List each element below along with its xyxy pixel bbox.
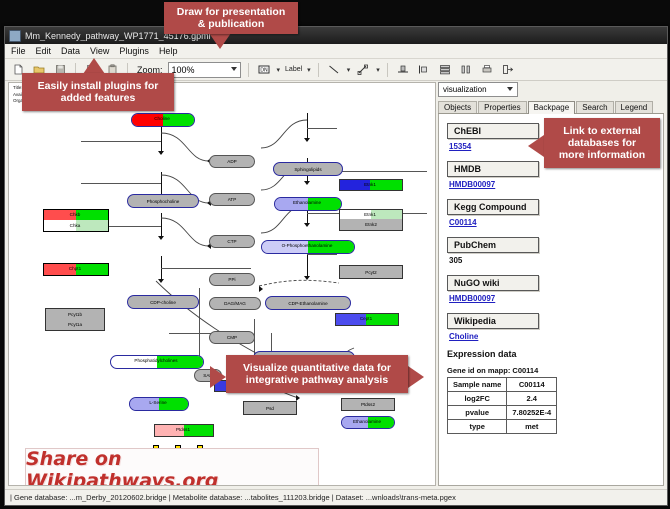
gene-label-chkb: Chkb xyxy=(43,212,107,217)
table-row: Sample name C00114 xyxy=(448,378,557,392)
toolbar-separator xyxy=(318,63,319,77)
gene-label-chka: Chka xyxy=(43,223,107,228)
share-banner: Share on Wikipathways.org xyxy=(25,448,319,486)
db-link-kegg-compound[interactable]: C00114 xyxy=(449,218,663,227)
cell-key: type xyxy=(448,420,507,434)
cofactor-atp[interactable]: ATP xyxy=(209,193,255,206)
gene-id-line: Gene id on mapp: C00114 xyxy=(447,366,663,375)
cell-key: pvalue xyxy=(448,406,507,420)
node-label: CDP-Ethanolamine xyxy=(288,301,327,306)
db-header-nugo-wiki: NuGO wiki xyxy=(447,275,539,291)
label-tool-icon[interactable]: Label xyxy=(285,66,302,73)
gene-label: Pcyt1b xyxy=(68,312,82,317)
cell-key: log2FC xyxy=(448,392,507,406)
gene-label: Ptdss2 xyxy=(361,402,375,407)
zoom-value: 100% xyxy=(172,65,195,75)
gene-psd[interactable]: Psd xyxy=(243,401,297,415)
table-row: log2FC 2.4 xyxy=(448,392,557,406)
gene-label-cept1: Cept1 xyxy=(335,316,397,321)
node-label: Phosphocholine xyxy=(147,199,180,204)
backpage-content[interactable]: ChEBI 15354 HMDB HMDB00097 Kegg Compound… xyxy=(438,114,664,486)
side-panel-tabs: Objects Properties Backpage Search Legen… xyxy=(438,99,664,114)
callout-arrow-down-icon xyxy=(209,33,231,49)
gene-pcyt2[interactable]: Pcyt2 xyxy=(339,265,403,279)
cell-value: C00114 xyxy=(507,378,557,392)
table-row: type met xyxy=(448,420,557,434)
tab-search[interactable]: Search xyxy=(576,101,613,113)
menu-item-data[interactable]: Data xyxy=(61,46,80,56)
cofactor-label: DAG/MAG xyxy=(224,301,246,306)
db-header-kegg-compound: Kegg Compound xyxy=(447,199,539,215)
distribute-tool-icon[interactable] xyxy=(458,62,474,78)
node-label-l-serine-left: L-Serine xyxy=(129,400,187,405)
gene-pcyt1a[interactable]: Pcyt1a xyxy=(45,319,105,331)
node-label-ethanolamine: Ethanolamine xyxy=(274,200,340,205)
cell-value: 7.80252E-4 xyxy=(507,406,557,420)
db-link-hmdb[interactable]: HMDB00097 xyxy=(449,180,663,189)
export-icon[interactable] xyxy=(500,62,516,78)
callout-arrow-left-icon xyxy=(528,135,544,157)
menu-item-help[interactable]: Help xyxy=(159,46,178,56)
pathway-canvas[interactable]: Title: Availa Organi xyxy=(8,82,436,486)
cofactor-label: CMP xyxy=(227,335,237,340)
callout-arrow-right-icon-2 xyxy=(408,366,424,388)
menu-item-edit[interactable]: Edit xyxy=(36,46,52,56)
chevron-down-icon[interactable]: ▾ xyxy=(307,66,311,74)
chevron-down-icon[interactable]: ▾ xyxy=(347,66,351,74)
screenshot-root: Mm_Kennedy_pathway_WP1771_45176.gpml Fil… xyxy=(0,0,670,509)
db-header-pubchem: PubChem xyxy=(447,237,539,253)
tab-backpage[interactable]: Backpage xyxy=(528,101,576,114)
line-tool-icon[interactable] xyxy=(326,62,342,78)
datanode-tool-icon[interactable]: DN xyxy=(256,62,272,78)
chevron-down-icon xyxy=(507,87,513,91)
arrow-icon xyxy=(259,286,263,292)
expression-data-heading: Expression data xyxy=(447,349,663,359)
menu-item-file[interactable]: File xyxy=(11,46,26,56)
db-header-wikipedia: Wikipedia xyxy=(447,313,539,329)
callout-draw-for-presentation: Draw for presentation & publication xyxy=(164,2,298,34)
db-header-chebi: ChEBI xyxy=(447,123,539,139)
table-row: pvalue 7.80252E-4 xyxy=(448,406,557,420)
cofactor-dag-mag[interactable]: DAG/MAG xyxy=(209,297,261,310)
toolbar-separator xyxy=(248,63,249,77)
gene-label-sgpl1: Etnk1 xyxy=(339,182,401,187)
tab-legend[interactable]: Legend xyxy=(615,101,654,113)
menu-item-plugins[interactable]: Plugins xyxy=(119,46,149,56)
cell-value: met xyxy=(507,420,557,434)
menu-bar: File Edit Data View Plugins Help xyxy=(5,44,667,59)
node-label-phosphatidylcholines: Phosphatidylcholines xyxy=(110,358,202,363)
status-text: | Gene database: ...m_Derby_20120602.bri… xyxy=(10,493,456,502)
tab-properties[interactable]: Properties xyxy=(478,101,526,113)
cofactor-ctp[interactable]: CTP xyxy=(209,235,255,248)
cell-value: 2.4 xyxy=(507,392,557,406)
gene-label-ptdss1: Ptdss1 xyxy=(154,427,212,432)
gene-etnk2[interactable]: Etnk2 xyxy=(339,219,403,231)
order-tool-icon[interactable] xyxy=(416,62,432,78)
callout-visualize-quantitative-data: Visualize quantitative data for integrat… xyxy=(226,355,408,393)
db-value-pubchem: 305 xyxy=(449,256,663,265)
toolbar-separator xyxy=(387,63,388,77)
callout-link-to-external-databases: Link to external databases for more info… xyxy=(544,118,660,168)
cell-key: Sample name xyxy=(448,378,507,392)
db-header-hmdb: HMDB xyxy=(447,161,539,177)
menu-item-view[interactable]: View xyxy=(90,46,109,56)
gene-label-chpt1: Chpt1 xyxy=(43,266,107,271)
app-icon xyxy=(9,30,21,42)
node-sphingolipids[interactable]: Sphingolipids xyxy=(273,162,343,176)
callout-easily-install-plugins: Easily install plugins for added feature… xyxy=(22,73,174,111)
align-tool-icon[interactable] xyxy=(395,62,411,78)
tab-objects[interactable]: Objects xyxy=(438,101,477,113)
cofactor-label: ADP xyxy=(227,159,236,164)
zoom-select[interactable]: 100% xyxy=(168,62,241,78)
callout-arrow-right-icon xyxy=(210,366,226,388)
gene-label: Etnk2 xyxy=(365,222,377,227)
gene-label: Pcyt1a xyxy=(68,322,82,327)
chevron-down-icon[interactable]: ▾ xyxy=(376,66,380,74)
cofactor-ppi[interactable]: PPi xyxy=(209,273,255,286)
cofactor-label: ATP xyxy=(228,197,237,202)
visualization-value: visualization xyxy=(443,85,487,94)
gene-label: Psd xyxy=(266,406,274,411)
title-bar: Mm_Kennedy_pathway_WP1771_45176.gpml xyxy=(5,27,667,44)
svg-text:DN: DN xyxy=(260,68,268,74)
cofactor-cmp[interactable]: CMP xyxy=(209,331,255,344)
chevron-down-icon[interactable]: ▾ xyxy=(277,66,281,74)
shape-tool-icon[interactable] xyxy=(355,62,371,78)
node-label-o-phosphoethanolamine: O-Phosphoethanolamine xyxy=(261,243,353,248)
chevron-down-icon xyxy=(231,67,237,71)
visualization-select[interactable]: visualization xyxy=(438,82,518,97)
node-label: Sphingolipids xyxy=(294,167,321,172)
cofactor-label: CTP xyxy=(227,239,236,244)
node-label-choline: Choline xyxy=(131,116,193,121)
group-tool-icon[interactable] xyxy=(437,62,453,78)
cofactor-adp[interactable]: ADP xyxy=(209,155,255,168)
node-phosphocholine[interactable]: Phosphocholine xyxy=(127,194,199,208)
callout-arrow-up-icon xyxy=(83,58,105,74)
cofactor-label: PPi xyxy=(228,277,235,282)
node-cdp-choline[interactable]: CDP-choline xyxy=(127,295,199,309)
share-banner-text: Share on Wikipathways.org xyxy=(26,448,318,486)
db-link-wikipedia[interactable]: Choline xyxy=(449,332,663,341)
gene-label: Pcyt2 xyxy=(365,270,377,275)
expression-table: Sample name C00114 log2FC 2.4 pvalue 7.8… xyxy=(447,377,557,434)
db-link-nugo-wiki[interactable]: HMDB00097 xyxy=(449,294,663,303)
node-label: CDP-choline xyxy=(150,300,176,305)
gene-ptdss2[interactable]: Ptdss2 xyxy=(341,398,395,411)
status-bar: | Gene database: ...m_Derby_20120602.bri… xyxy=(5,489,667,505)
gene-label-etnk1: Etnk1 xyxy=(339,212,401,217)
print-icon[interactable] xyxy=(479,62,495,78)
node-cdp-ethanolamine[interactable]: CDP-Ethanolamine xyxy=(265,296,351,310)
node-label-ethanolamine-lower: Ethanolamine xyxy=(341,419,393,424)
